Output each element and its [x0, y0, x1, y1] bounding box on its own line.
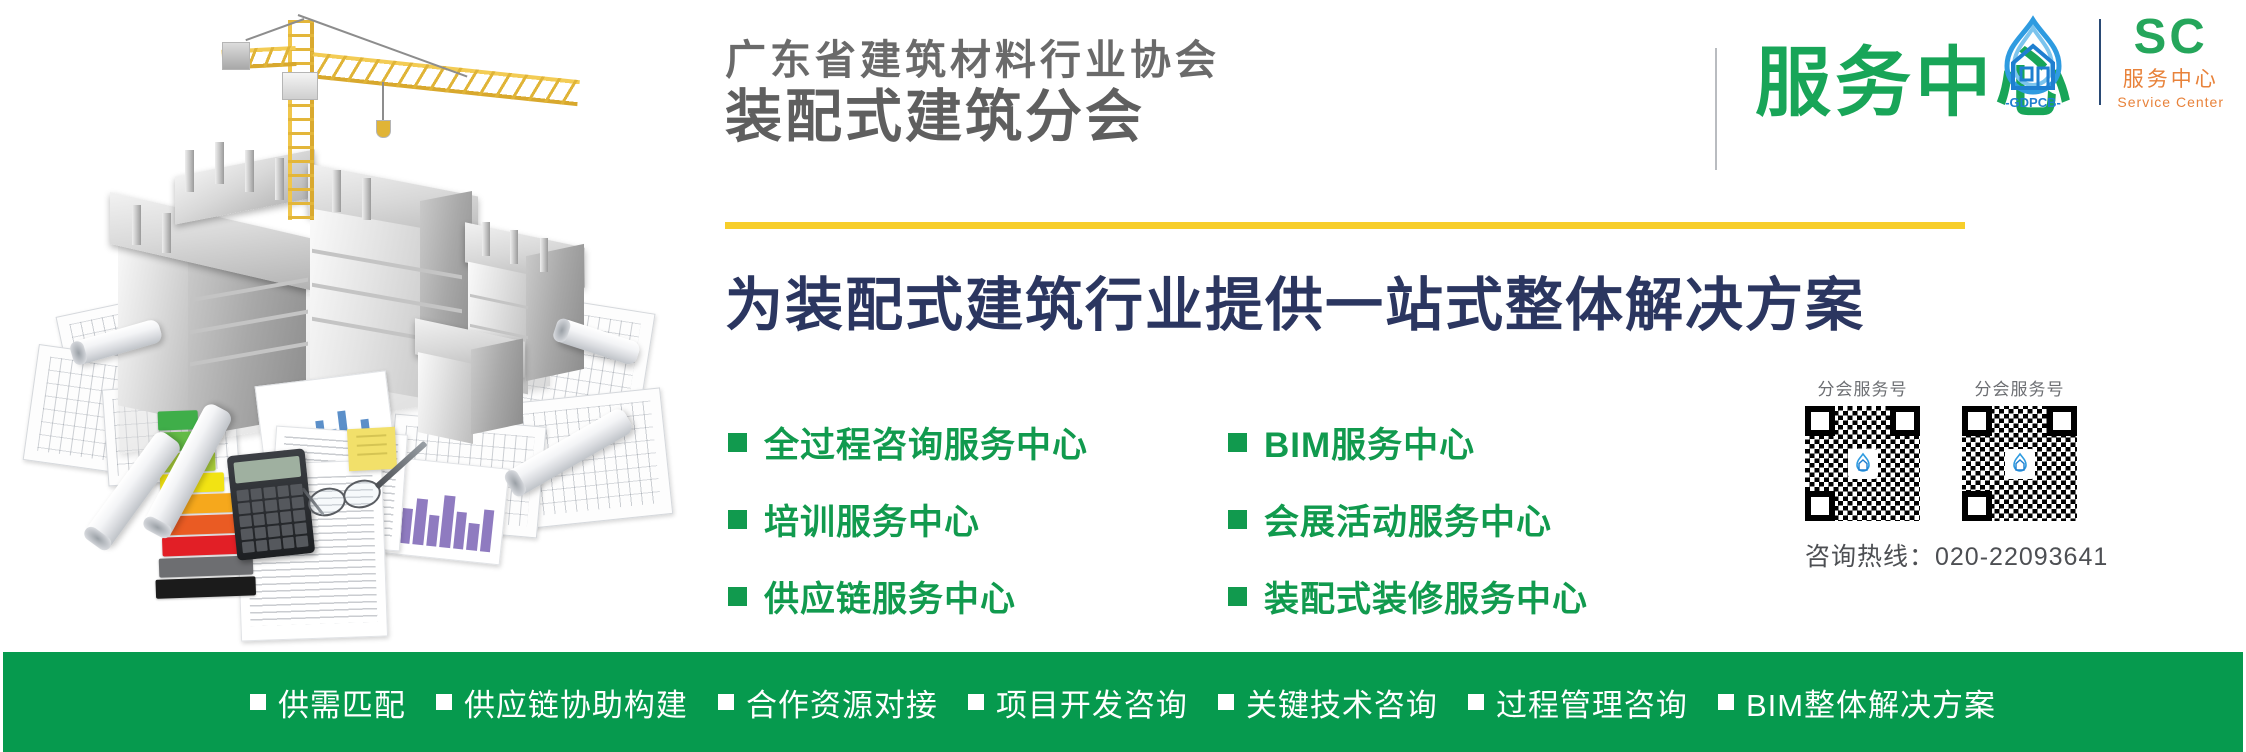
bullet-square-icon [1228, 510, 1247, 529]
qr-code-block[interactable]: 分会服务号 [1962, 375, 2077, 521]
bullet-square-icon [728, 433, 747, 452]
qr-center-logo-icon [2005, 449, 2035, 479]
sc-english-label: Service Center [2117, 94, 2224, 110]
brand-divider [2099, 19, 2101, 105]
building-block-low-wall2 [471, 338, 523, 434]
building-column [132, 205, 141, 245]
calculator-keypad [237, 483, 309, 553]
crane-jib [309, 52, 580, 106]
building-column [185, 150, 194, 192]
qr-caption: 分会服务号 [1962, 375, 2077, 400]
energy-band-i [155, 576, 256, 598]
bullet-square-icon [1228, 587, 1247, 606]
footer-tag[interactable]: 关键技术咨询 [1218, 680, 1438, 725]
service-item[interactable]: 会展活动服务中心 [1228, 492, 1588, 547]
building-column [215, 142, 224, 184]
building-column [332, 170, 341, 212]
service-item-label: 全过程咨询服务中心 [764, 417, 1088, 468]
crane-cab [282, 72, 318, 100]
footer-tag-label: 合作资源对接 [746, 680, 938, 725]
service-item[interactable]: 装配式装修服务中心 [1228, 569, 1588, 624]
crane-hoist-cable [382, 82, 384, 124]
header-vertical-divider [1715, 48, 1717, 170]
bullet-square-icon [250, 694, 266, 710]
calculator [227, 448, 316, 561]
footer-tag[interactable]: 供应链协助构建 [436, 680, 688, 725]
building-block-right-wall2 [526, 244, 584, 381]
yellow-divider-rule [725, 222, 1965, 229]
service-item[interactable]: BIM服务中心 [1228, 415, 1588, 470]
construction-photo-collage [10, 0, 650, 650]
building-column [510, 230, 518, 264]
qr-code-image[interactable] [1962, 406, 2077, 521]
qr-caption: 分会服务号 [1805, 375, 1920, 400]
sc-chinese-label: 服务中心 [2117, 63, 2224, 93]
service-item[interactable]: 供应链服务中心 [728, 569, 1088, 624]
crane-hook [376, 120, 391, 138]
footer-tag[interactable]: 项目开发咨询 [968, 680, 1188, 725]
footer-tag-label: 项目开发咨询 [996, 680, 1188, 725]
service-list-left: 全过程咨询服务中心 培训服务中心 供应链服务中心 [728, 415, 1088, 646]
association-branch-name: 装配式建筑分会 [725, 86, 1220, 150]
building-block-low-wall [418, 352, 473, 444]
service-item-label: 会展活动服务中心 [1264, 494, 1552, 545]
gdpcb-flame-house-icon [2008, 452, 2032, 476]
building-column [245, 150, 254, 192]
building-column [275, 158, 284, 200]
service-item-label: 装配式装修服务中心 [1264, 571, 1588, 622]
building-column [162, 213, 171, 253]
bullet-square-icon [1718, 694, 1734, 710]
calculator-screen [234, 456, 301, 484]
main-tagline: 为装配式建筑行业提供一站式整体解决方案 [725, 258, 1865, 342]
gdpcb-flame-house-icon: -GDPCB- [1983, 12, 2083, 112]
sticky-note [347, 427, 397, 471]
bullet-square-icon [728, 510, 747, 529]
bullet-square-icon [718, 694, 734, 710]
qr-code-block[interactable]: 分会服务号 [1805, 375, 1920, 521]
bullet-square-icon [968, 694, 984, 710]
gdpcb-flame-house-icon [1851, 452, 1875, 476]
footer-tag-label: 供需匹配 [278, 680, 406, 725]
footer-tag-bar: 供需匹配 供应链协助构建 合作资源对接 项目开发咨询 关键技术咨询 过程管理咨询… [3, 652, 2243, 752]
footer-tag-label: 关键技术咨询 [1246, 680, 1438, 725]
qr-center-logo-icon [1848, 449, 1878, 479]
footer-tag[interactable]: 过程管理咨询 [1468, 680, 1688, 725]
service-item[interactable]: 培训服务中心 [728, 492, 1088, 547]
building-column [482, 222, 490, 256]
crane-counterweight [222, 42, 250, 70]
content-area: 广东省建筑材料行业协会 装配式建筑分会 服务中心 为装配式建筑行业提供一站式整体… [650, 0, 2246, 752]
footer-tag-label: 供应链协助构建 [464, 680, 688, 725]
service-list-right: BIM服务中心 会展活动服务中心 装配式装修服务中心 [1228, 415, 1588, 646]
qr-code-image[interactable] [1805, 406, 1920, 521]
service-item-label: BIM服务中心 [1264, 417, 1475, 468]
hotline-text: 咨询热线：020-22093641 [1805, 537, 2105, 573]
service-item[interactable]: 全过程咨询服务中心 [728, 415, 1088, 470]
footer-tag[interactable]: 合作资源对接 [718, 680, 938, 725]
footer-tag[interactable]: BIM整体解决方案 [1718, 680, 1996, 725]
banner-root: 广东省建筑材料行业协会 装配式建筑分会 服务中心 为装配式建筑行业提供一站式整体… [0, 0, 2246, 752]
footer-tag-label: BIM整体解决方案 [1746, 680, 1996, 725]
gdpcb-wordmark: -GDPCB- [2006, 95, 2062, 110]
association-name-block: 广东省建筑材料行业协会 装配式建筑分会 [725, 38, 1220, 150]
qr-and-contact-area: 分会服务号 分会服务号 [1805, 375, 2105, 573]
bullet-square-icon [1218, 694, 1234, 710]
qr-code-pair: 分会服务号 分会服务号 [1805, 375, 2105, 521]
service-item-label: 供应链服务中心 [764, 571, 1016, 622]
sc-logo: SC 服务中心 Service Center [2117, 14, 2224, 110]
footer-tag[interactable]: 供需匹配 [250, 680, 406, 725]
building-column [362, 178, 371, 220]
footer-tag-label: 过程管理咨询 [1496, 680, 1688, 725]
service-item-label: 培训服务中心 [764, 494, 980, 545]
bullet-square-icon [1228, 433, 1247, 452]
bullet-square-icon [1468, 694, 1484, 710]
association-parent-name: 广东省建筑材料行业协会 [725, 38, 1220, 84]
bullet-square-icon [728, 587, 747, 606]
bullet-square-icon [436, 694, 452, 710]
building-column [540, 238, 548, 272]
gdpcb-logo-mark: -GDPCB- [1983, 12, 2083, 112]
sc-letters: SC [2117, 14, 2224, 61]
brand-logo: -GDPCB- SC 服务中心 Service Center [1983, 12, 2224, 112]
